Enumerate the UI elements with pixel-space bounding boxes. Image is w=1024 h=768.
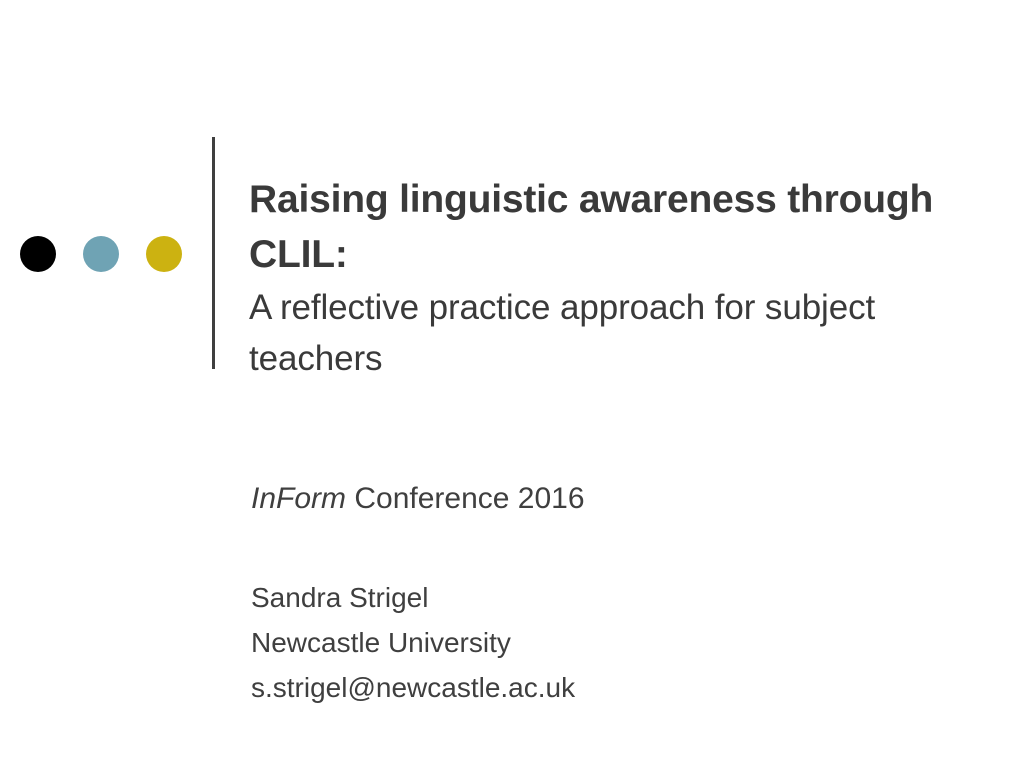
decorative-dot-cluster (20, 236, 182, 272)
author-block: Sandra Strigel Newcastle University s.st… (251, 575, 575, 710)
dot-gold-icon (146, 236, 182, 272)
dot-black-icon (20, 236, 56, 272)
conference-edition: Conference 2016 (346, 482, 585, 515)
heading-block: Raising linguistic awareness through CLI… (249, 172, 979, 384)
author-affiliation: Newcastle University (251, 620, 575, 665)
author-name: Sandra Strigel (251, 575, 575, 620)
page-subtitle: A reflective practice approach for subje… (249, 282, 979, 384)
dot-blue-icon (83, 236, 119, 272)
conference-name: InForm (251, 482, 346, 515)
vertical-divider-rule (212, 137, 215, 369)
conference-line: InForm Conference 2016 (251, 480, 585, 518)
page-title: Raising linguistic awareness through CLI… (249, 172, 979, 282)
author-email: s.strigel@newcastle.ac.uk (251, 665, 575, 710)
title-slide: Raising linguistic awareness through CLI… (0, 0, 1024, 768)
